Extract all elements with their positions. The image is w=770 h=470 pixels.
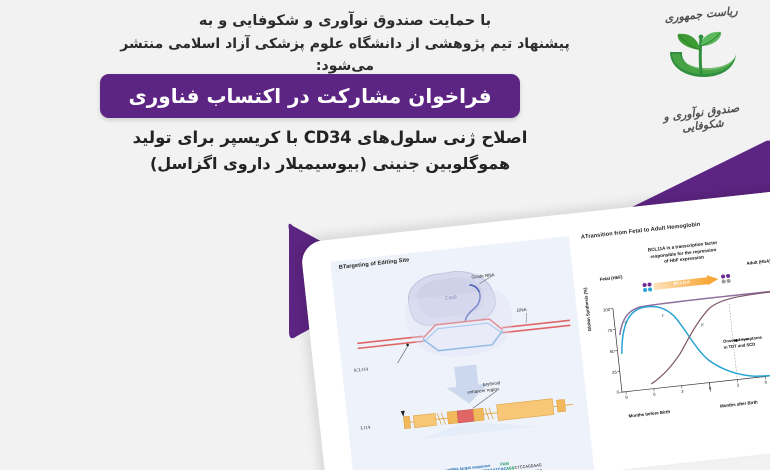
intro-line-2: پیشنهاد تیم پژوهشی از دانشگاه علوم پزشکی… bbox=[120, 34, 570, 77]
svg-text:50: 50 bbox=[610, 349, 616, 355]
chart-x-label-right: Months after Birth bbox=[720, 399, 758, 408]
sgrna-sequence-block: sgRNA target sequencePAM TAGTCTAGTGCAAGC… bbox=[368, 452, 589, 470]
globin-synthesis-chart: Globin Synthesis (%) 100 75 50 25 bbox=[586, 283, 770, 413]
svg-text:6: 6 bbox=[653, 391, 657, 396]
project-subtitle: اصلاح ژنی سلول‌های CD34 با کریسپر برای ت… bbox=[95, 124, 565, 178]
bcl11a-top-label: BCL11A bbox=[352, 366, 368, 373]
curve-label-beta: β bbox=[700, 322, 705, 327]
announcement-intro: با حمایت صندوق نوآوری و شکوفایی و به پیش… bbox=[120, 10, 570, 78]
svg-text:9: 9 bbox=[625, 394, 629, 399]
svg-text:75: 75 bbox=[607, 328, 613, 334]
svg-text:100: 100 bbox=[603, 307, 611, 313]
svg-text:25: 25 bbox=[612, 369, 618, 375]
subtitle-line-1: اصلاح ژنی سلول‌های CD34 با کریسپر برای ت… bbox=[95, 124, 565, 151]
chart-x-label-left: Months before Birth bbox=[628, 409, 670, 418]
headline-banner[interactable]: فراخوان مشارکت در اکتساب فناوری bbox=[100, 74, 520, 118]
svg-text:0: 0 bbox=[616, 389, 620, 394]
intro-line-1: با حمایت صندوق نوآوری و شکوفایی و به bbox=[120, 10, 570, 32]
curve-label-gamma: γ bbox=[662, 312, 665, 317]
logo-top-script: ریاست جمهوری bbox=[646, 2, 757, 26]
figure-panel-a: ATransition from Fetal to Adult Hemoglob… bbox=[577, 213, 770, 470]
figure-panel-b: BTargeting of Editing Site Cas9 bbox=[330, 236, 595, 470]
svg-text:3: 3 bbox=[736, 382, 740, 387]
poster-canvas: با حمایت صندوق نوآوری و شکوفایی و به پیش… bbox=[0, 0, 770, 470]
adult-hb-tetramer-icon bbox=[721, 274, 731, 284]
fetal-hb-tetramer-icon bbox=[642, 282, 652, 292]
svg-text:3: 3 bbox=[681, 388, 685, 393]
logo-bottom-script: صندوق نوآوری و شکوفایی bbox=[641, 99, 763, 139]
panel-a-title-text: Transition from Fetal to Adult Hemoglobi… bbox=[585, 222, 701, 240]
bcl11a-bottom-label: BCL11A bbox=[355, 424, 371, 431]
dna-label: DNA bbox=[517, 307, 528, 313]
svg-text:6: 6 bbox=[764, 379, 768, 384]
bcl11a-arrow-icon: BCL11A bbox=[653, 274, 720, 292]
sprout-leaf-icon bbox=[660, 28, 746, 98]
subtitle-line-2: هموگلوبین جنینی (بیوسیمیلار داروی اگزاسل… bbox=[95, 151, 565, 177]
headline-banner-title: فراخوان مشارکت در اکتساب فناوری bbox=[128, 84, 491, 108]
scientific-figure: ATransition from Fetal to Adult Hemoglob… bbox=[326, 213, 770, 470]
fetal-hb-label: Fetal (HbF) bbox=[599, 274, 622, 281]
adult-hb-label: Adult (HbA) bbox=[746, 258, 770, 266]
innovation-fund-logo: ریاست جمهوری صندوق نوآوری و شکوفایی bbox=[642, 6, 762, 134]
pam-header: PAM bbox=[500, 461, 509, 467]
panel-b-diagram: Cas9 bbox=[343, 246, 590, 470]
